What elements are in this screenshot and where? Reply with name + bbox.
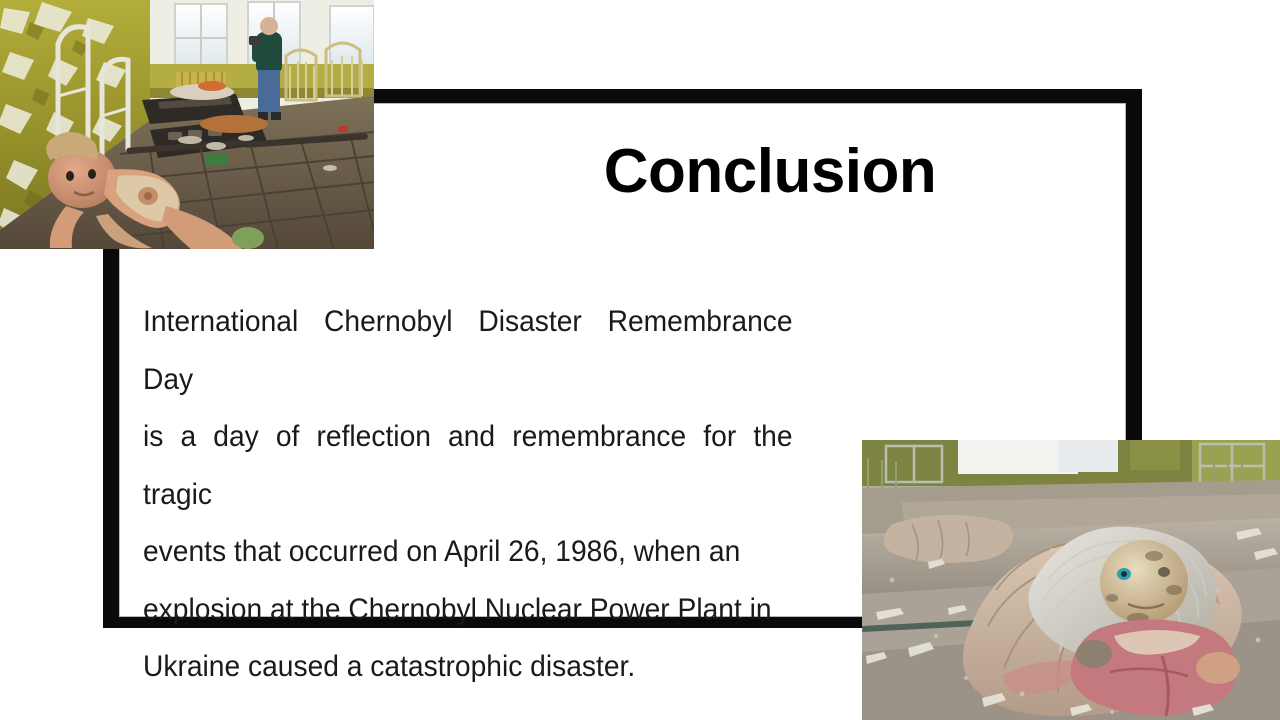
body-line: International Chernobyl Disaster Remembr… <box>143 293 793 408</box>
body-line: Ukraine caused a catastrophic disaster. <box>143 638 793 696</box>
photo-abandoned-kindergarten <box>0 0 374 249</box>
photo-abandoned-kindergarten-graphic <box>0 0 374 249</box>
photo-doll-on-mattress <box>862 440 1280 720</box>
photo-doll-on-mattress-graphic <box>862 440 1280 720</box>
slide: Conclusion International Chernobyl Disas… <box>0 0 1280 720</box>
body-paragraph: International Chernobyl Disaster Remembr… <box>143 293 793 696</box>
body-line: events that occurred on April 26, 1986, … <box>143 523 793 581</box>
body-line: is a day of reflection and remembrance f… <box>143 408 793 523</box>
body-line: explosion at the Chernobyl Nuclear Power… <box>143 581 793 639</box>
page-title: Conclusion <box>430 138 1110 206</box>
